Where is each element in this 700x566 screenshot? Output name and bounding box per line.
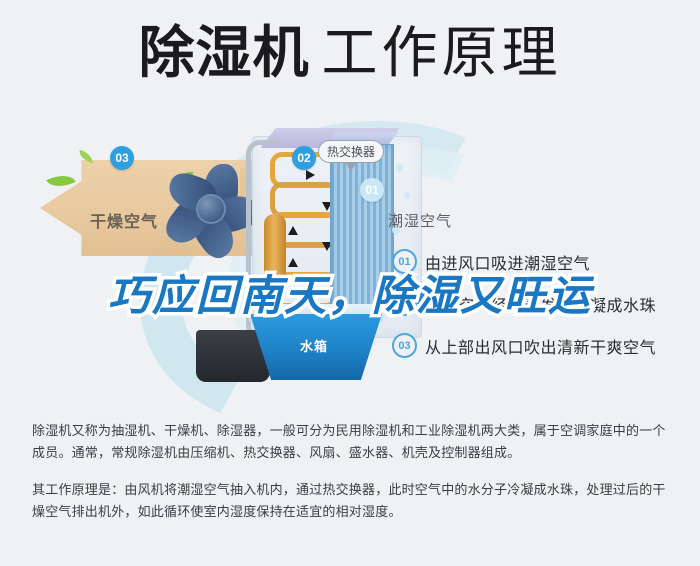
flow-arrow-up-icon — [288, 226, 298, 235]
diagram-badge-01: 01 — [360, 178, 384, 202]
step-number: 03 — [392, 333, 417, 358]
page-title-part1: 除湿机 — [139, 22, 310, 84]
diagram-badge-02: 02 — [292, 146, 316, 170]
step-text: 从上部出风口吹出清新干爽空气 — [425, 334, 656, 358]
fan-hub-icon — [196, 194, 226, 224]
slogan-overlay: 巧应回南天，除湿又旺运 — [0, 262, 700, 323]
humid-air-label: 潮湿空气 — [388, 210, 452, 231]
page-title: 除湿机工作原理 — [0, 22, 700, 84]
poster-root: 除湿机工作原理 干燥空气 — [0, 0, 700, 566]
description-paragraph-1: 除湿机又称为抽湿机、干燥机、除湿器，一般可分为民用除湿机和工业除湿机两大类，属于… — [32, 420, 672, 464]
list-item: 03 从上部出风口吹出清新干爽空气 — [392, 333, 692, 358]
diagram-badge-03: 03 — [110, 146, 134, 170]
flow-arrow-right-icon — [306, 170, 315, 180]
description-paragraph-2: 其工作原理是：由风机将潮湿空气抽入机内，通过热交换器，此时空气中的水分子冷凝成水… — [32, 479, 672, 523]
water-tank-label: 水箱 — [300, 336, 328, 355]
page-title-part2: 工作原理 — [322, 22, 562, 84]
dry-air-label: 干燥空气 — [90, 208, 158, 232]
heat-exchanger-callout: 热交换器 — [318, 140, 384, 163]
